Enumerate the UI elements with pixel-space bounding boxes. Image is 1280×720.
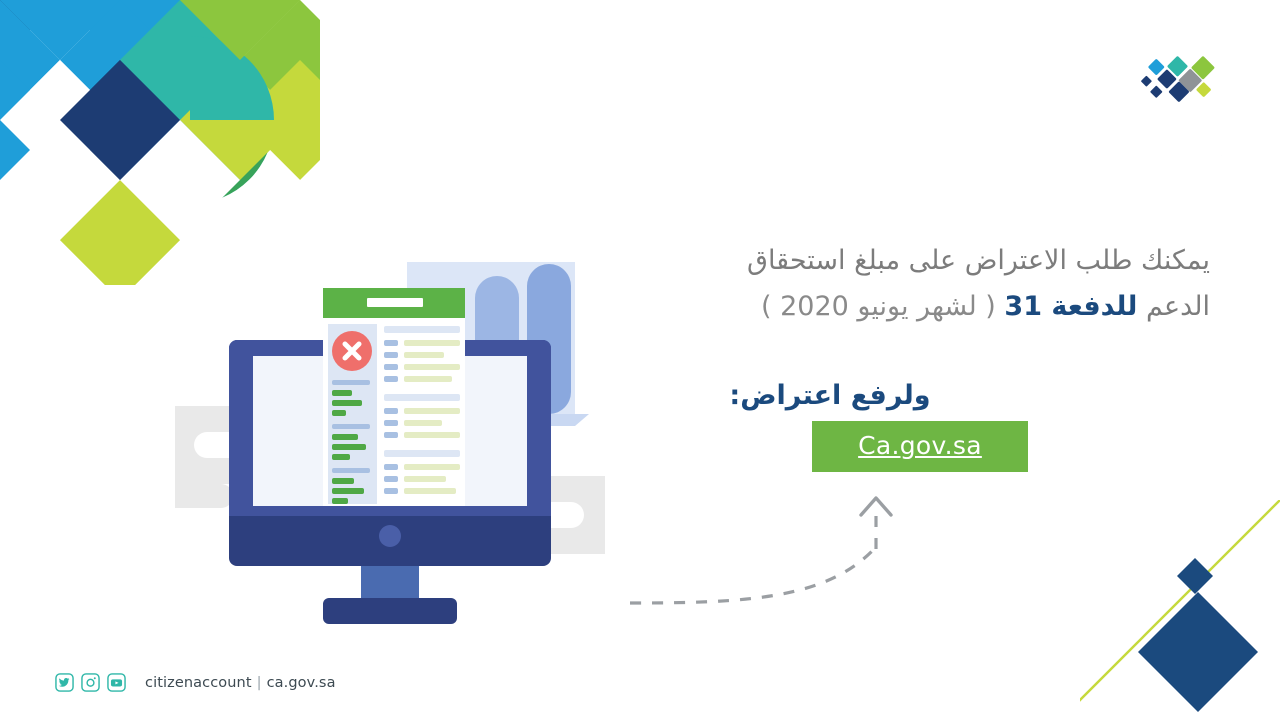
decorative-diamond-pattern-overlay bbox=[0, 0, 320, 285]
headline-line-2: الدعم للدفعة 31 ( لشهر يونيو 2020 ) bbox=[630, 284, 1210, 330]
instagram-icon[interactable] bbox=[81, 673, 100, 692]
cta-group: ولرفع اعتراض: Ca.gov.sa bbox=[630, 380, 1210, 472]
logo-wordmark-line1: حساب bbox=[1220, 90, 1222, 128]
form-document bbox=[323, 288, 465, 510]
youtube-icon[interactable] bbox=[107, 673, 126, 692]
footer-handle: citizenaccount bbox=[145, 675, 252, 691]
red-x-circle-icon bbox=[332, 331, 372, 371]
twitter-icon[interactable] bbox=[55, 673, 74, 692]
decorative-diamond-bottomright bbox=[1080, 500, 1280, 720]
footer-separator: | bbox=[252, 675, 267, 691]
headline-prefix: الدعم bbox=[1137, 291, 1210, 322]
headline-line-1: يمكنك طلب الاعتراض على مبلغ استحقاق bbox=[630, 238, 1210, 284]
headline-suffix: ( لشهر يونيو 2020 ) bbox=[761, 291, 1004, 322]
desktop-monitor-illustration bbox=[175, 248, 605, 638]
footer-bar: citizenaccount|ca.gov.sa bbox=[55, 673, 336, 692]
payment-number-highlight: للدفعة 31 bbox=[1004, 291, 1137, 322]
hesab-almowaten-logo: حساب المواطن bbox=[1052, 52, 1222, 167]
footer-credits: citizenaccount|ca.gov.sa bbox=[133, 675, 336, 691]
logo-wordmark-line2: المواطن bbox=[1220, 126, 1222, 164]
headline-message: يمكنك طلب الاعتراض على مبلغ استحقاق الدع… bbox=[630, 238, 1210, 330]
footer-website: ca.gov.sa bbox=[267, 675, 336, 691]
ca-gov-sa-button[interactable]: Ca.gov.sa bbox=[812, 421, 1028, 472]
large-diamond bbox=[1138, 592, 1258, 712]
small-diamond bbox=[1177, 558, 1213, 594]
cta-label: ولرفع اعتراض: bbox=[630, 380, 1210, 411]
poster-canvas: حساب المواطن يمكنك طلب الاعتراض على مبلغ… bbox=[0, 0, 1280, 720]
curved-dashed-arrow-icon bbox=[628, 485, 928, 615]
